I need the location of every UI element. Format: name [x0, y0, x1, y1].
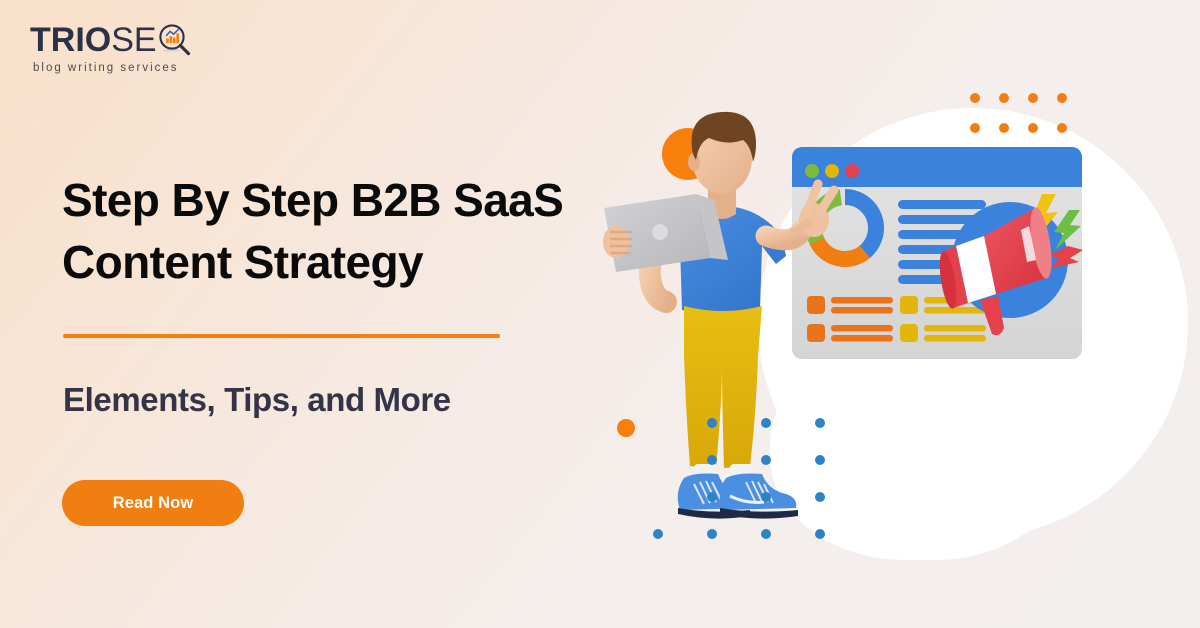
orange-ball-decor [617, 419, 635, 437]
title-divider [63, 334, 500, 338]
logo-tagline: blog writing services [30, 62, 230, 74]
page-title: Step By Step B2B SaaS Content Strategy [62, 169, 582, 294]
promo-banner: TRIO SE blog writing services Step By St… [0, 0, 1200, 628]
traffic-light-red-icon [845, 164, 859, 178]
hero-illustration [580, 60, 1200, 580]
shoe-right-icon [720, 474, 798, 519]
page-subtitle: Elements, Tips, and More [63, 381, 603, 419]
logo-text-se: SE [111, 23, 156, 57]
logo-text-trio: TRIO [30, 23, 111, 57]
traffic-light-green-icon [805, 164, 819, 178]
traffic-light-yellow-icon [825, 164, 839, 178]
left-hand-icon [603, 226, 632, 258]
brand-logo[interactable]: TRIO SE blog writing services [30, 22, 230, 74]
orange-dot-grid-icon [970, 93, 1067, 133]
logo-wordmark: TRIO SE [30, 22, 230, 58]
read-now-button[interactable]: Read Now [62, 480, 244, 526]
magnifier-chart-icon [158, 23, 192, 57]
illustration-svg [580, 60, 1200, 580]
browser-window-mock [792, 147, 1083, 359]
